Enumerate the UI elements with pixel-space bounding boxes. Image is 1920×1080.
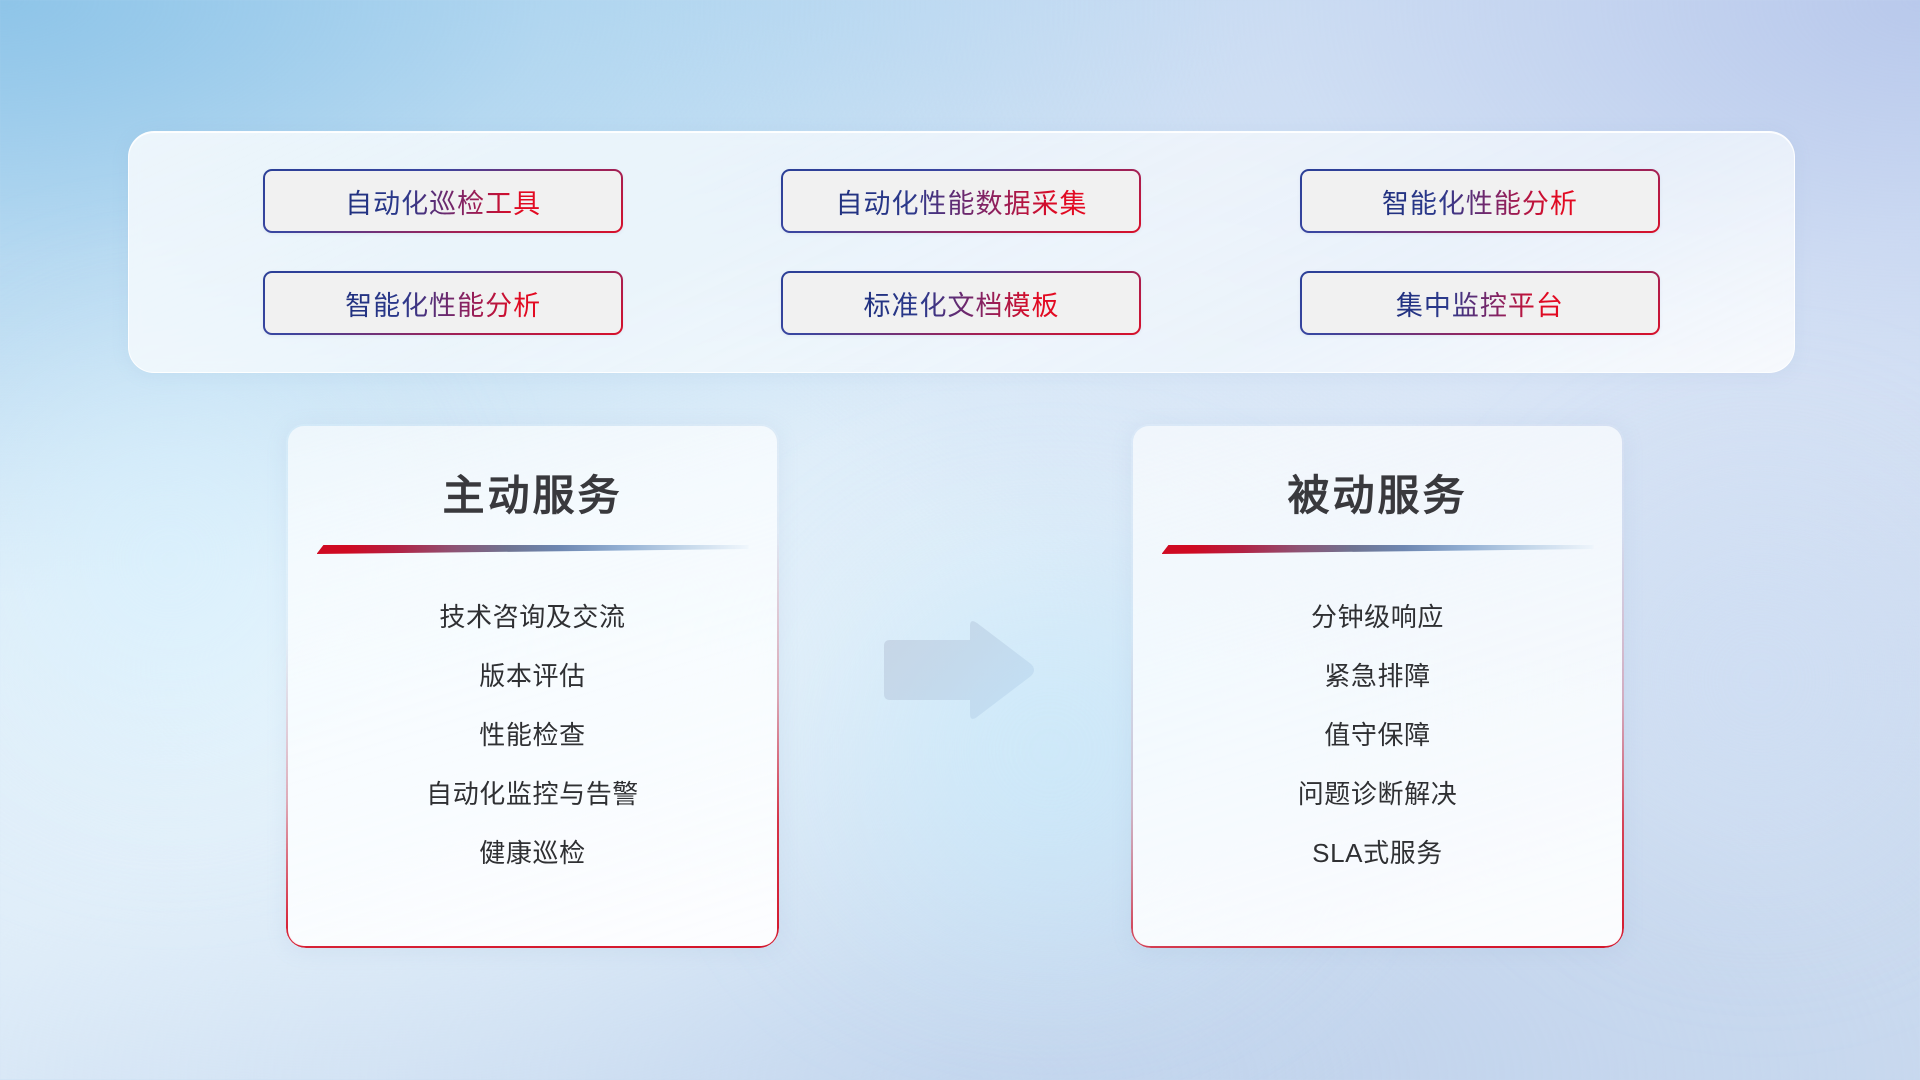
capability-panel: 自动化巡检工具 自动化性能数据采集 智能化性能分析 智能化性能分析 标准化文档模… [128, 131, 1795, 373]
capability-tag[interactable]: 智能化性能分析 [1300, 169, 1660, 233]
capability-tag-label: 标准化文档模板 [863, 284, 1059, 323]
capability-tag[interactable]: 标准化文档模板 [781, 271, 1141, 335]
card-title: 主动服务 [288, 462, 777, 523]
card-list-item: 技术咨询及交流 [288, 586, 777, 645]
card-list-item: 自动化监控与告警 [288, 763, 777, 822]
card-list-item: SLA式服务 [1133, 822, 1622, 881]
capability-tag-label: 集中监控平台 [1396, 284, 1564, 323]
card-list-item: 版本评估 [288, 645, 777, 704]
service-card-proactive: 主动服务 技术咨询及交流 版本评估 性能检查 自动化监控与告警 健康巡检 [286, 424, 779, 948]
card-title: 被动服务 [1133, 462, 1622, 523]
capability-tag-label: 自动化性能数据采集 [835, 182, 1087, 221]
capability-tag[interactable]: 自动化性能数据采集 [781, 169, 1141, 233]
card-item-list: 技术咨询及交流 版本评估 性能检查 自动化监控与告警 健康巡检 [288, 586, 777, 881]
capability-tag[interactable]: 自动化巡检工具 [263, 169, 623, 233]
card-list-item: 性能检查 [288, 704, 777, 763]
capability-tag-label: 自动化巡检工具 [345, 182, 541, 221]
card-list-item: 紧急排障 [1133, 645, 1622, 704]
card-list-item: 问题诊断解决 [1133, 763, 1622, 822]
service-card-reactive: 被动服务 分钟级响应 紧急排障 值守保障 问题诊断解决 SLA式服务 [1131, 424, 1624, 948]
card-list-item: 值守保障 [1133, 704, 1622, 763]
card-divider [317, 545, 749, 554]
card-list-item: 健康巡检 [288, 822, 777, 881]
capability-tag[interactable]: 智能化性能分析 [263, 271, 623, 335]
capability-tag-label: 智能化性能分析 [1382, 182, 1578, 221]
card-list-item: 分钟级响应 [1133, 586, 1622, 645]
arrow-right-icon [878, 616, 1038, 724]
card-divider [1162, 545, 1594, 554]
capability-tag-label: 智能化性能分析 [345, 284, 541, 323]
card-item-list: 分钟级响应 紧急排障 值守保障 问题诊断解决 SLA式服务 [1133, 586, 1622, 881]
capability-tag[interactable]: 集中监控平台 [1300, 271, 1660, 335]
